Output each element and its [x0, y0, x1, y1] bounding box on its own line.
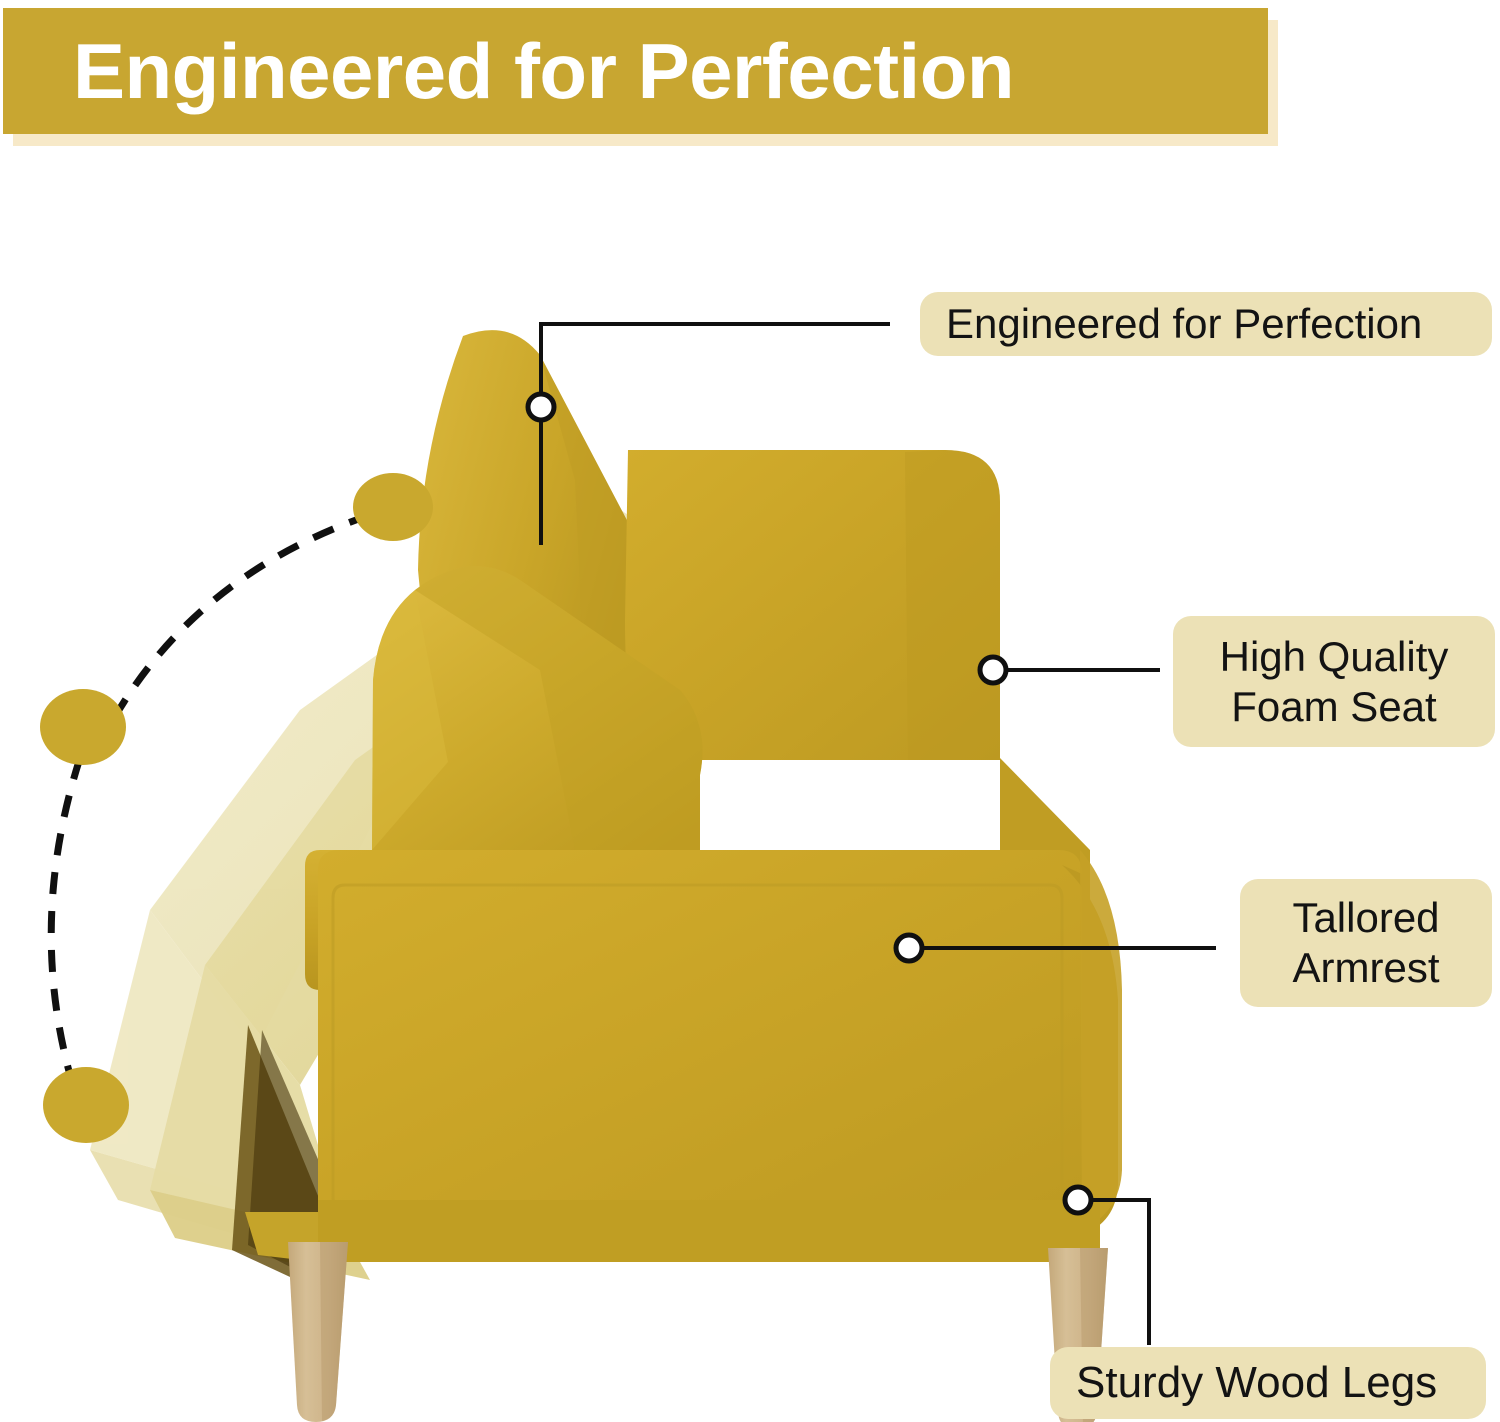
callout-label-line1: Tallored: [1292, 894, 1439, 941]
callout-tallored-armrest: Tallored Armrest: [1240, 879, 1492, 1007]
callout-label: Sturdy Wood Legs: [1076, 1357, 1460, 1409]
callout-sturdy-wood-legs: Sturdy Wood Legs: [1050, 1347, 1486, 1419]
callout-label: Tallored Armrest: [1262, 893, 1470, 992]
marker-dot-engineered: [528, 394, 554, 420]
callout-label-line2: Armrest: [1293, 944, 1440, 991]
marker-dot-legs: [1065, 1187, 1091, 1213]
base-rail: [245, 1200, 1100, 1262]
callout-engineered-for-perfection: Engineered for Perfection: [920, 292, 1492, 356]
motion-dot-1: [353, 473, 433, 541]
wood-leg-left: [288, 1242, 348, 1422]
motion-dot-3: [43, 1067, 129, 1143]
armrest-front-panel: [318, 850, 1122, 1235]
infographic-page: Engineered for Perfection: [0, 0, 1500, 1422]
callout-label-line1: High Quality: [1220, 633, 1449, 680]
dashed-arc-lower: [51, 758, 80, 1075]
marker-dot-armrest: [896, 935, 922, 961]
callout-label: Engineered for Perfection: [946, 299, 1466, 349]
callout-high-quality-foam-seat: High Quality Foam Seat: [1173, 616, 1495, 747]
callout-label: High Quality Foam Seat: [1195, 632, 1473, 731]
marker-dot-foam: [980, 657, 1006, 683]
motion-dot-2: [40, 689, 126, 765]
callout-label-line2: Foam Seat: [1231, 683, 1436, 730]
header-banner: Engineered for Perfection: [3, 8, 1268, 134]
banner-title: Engineered for Perfection: [3, 32, 1014, 110]
